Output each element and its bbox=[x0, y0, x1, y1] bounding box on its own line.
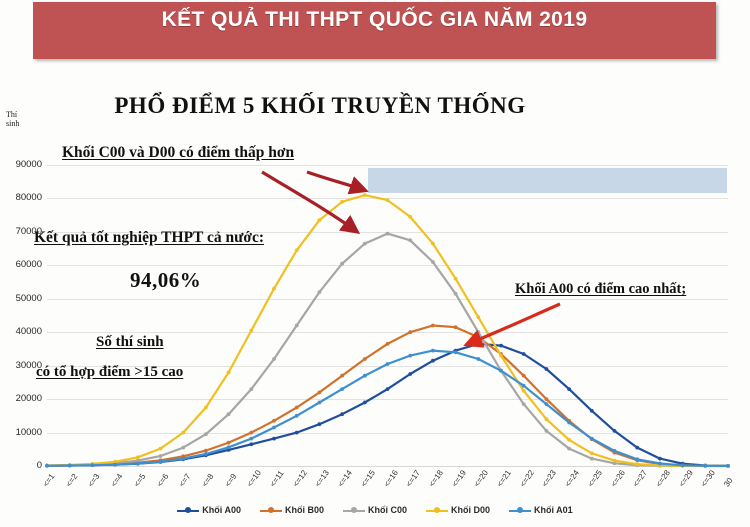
data-point bbox=[658, 457, 662, 461]
y-axis-tick-label: 80000 bbox=[0, 192, 42, 203]
x-axis-tick-label: <=20 bbox=[472, 468, 490, 488]
data-point bbox=[476, 357, 480, 361]
annotation-low-scores-text: Khối C00 và D00 có điểm thấp hơn bbox=[62, 144, 294, 161]
data-point bbox=[590, 409, 594, 413]
data-point bbox=[567, 387, 571, 391]
data-point bbox=[204, 452, 208, 456]
data-point bbox=[590, 437, 594, 441]
data-point bbox=[340, 387, 344, 391]
title-banner: KẾT QUẢ THI THPT QUỐC GIA NĂM 2019 bbox=[33, 2, 716, 59]
data-point bbox=[499, 369, 503, 373]
data-point bbox=[113, 463, 117, 467]
data-point bbox=[386, 387, 390, 391]
data-point bbox=[249, 437, 253, 441]
legend-item[interactable]: Khối A01 bbox=[509, 505, 573, 515]
x-axis-tick-label: <=26 bbox=[609, 468, 627, 488]
legend-swatch-icon bbox=[509, 506, 531, 515]
data-point bbox=[272, 437, 276, 441]
data-point bbox=[590, 451, 594, 455]
data-point bbox=[181, 446, 185, 450]
data-point bbox=[454, 350, 458, 354]
x-axis-tick-label: <=19 bbox=[450, 468, 468, 488]
data-point bbox=[249, 442, 253, 446]
x-axis-tick-label: 30 bbox=[722, 476, 734, 488]
legend-swatch-icon bbox=[177, 506, 199, 515]
data-point bbox=[386, 232, 390, 236]
x-axis-tick-label: <=17 bbox=[404, 468, 422, 488]
data-point bbox=[249, 431, 253, 435]
y-axis-tick-label: 40000 bbox=[0, 326, 42, 337]
x-axis-tick-label: <=27 bbox=[631, 468, 649, 488]
data-point bbox=[386, 362, 390, 366]
data-point bbox=[318, 422, 322, 426]
data-point bbox=[476, 330, 480, 334]
data-point bbox=[295, 431, 299, 435]
data-point bbox=[658, 462, 662, 466]
data-point bbox=[318, 401, 322, 405]
data-point bbox=[340, 412, 344, 416]
x-axis-tick-label: <=5 bbox=[132, 472, 147, 488]
slide-root: KẾT QUẢ THI THPT QUỐC GIA NĂM 2019 PHỔ Đ… bbox=[0, 0, 750, 527]
data-point bbox=[363, 401, 367, 405]
data-point bbox=[386, 198, 390, 202]
data-point bbox=[590, 457, 594, 461]
legend-label: Khối D00 bbox=[451, 505, 490, 515]
data-point bbox=[295, 248, 299, 252]
data-point bbox=[363, 242, 367, 246]
x-axis-tick-label: <=13 bbox=[313, 468, 331, 488]
data-point bbox=[204, 432, 208, 436]
data-point bbox=[318, 391, 322, 395]
legend-item[interactable]: Khối A00 bbox=[177, 505, 241, 515]
annotation-count-line2-text: có tổ hợp điểm >15 cao bbox=[36, 364, 183, 380]
data-point bbox=[408, 354, 412, 358]
y-axis-tick-label: 60000 bbox=[0, 259, 42, 270]
data-point bbox=[545, 429, 549, 433]
data-point bbox=[181, 431, 185, 435]
data-point bbox=[499, 354, 503, 358]
x-axis-tick-label: <=21 bbox=[495, 468, 513, 488]
legend-item[interactable]: Khối D00 bbox=[426, 505, 490, 515]
data-point bbox=[431, 260, 435, 264]
x-axis-tick-label: <=22 bbox=[518, 468, 536, 488]
data-point bbox=[681, 463, 685, 467]
data-point bbox=[408, 215, 412, 219]
annotation-count-line2: có tổ hợp điểm >15 cao bbox=[36, 364, 183, 381]
data-point bbox=[613, 459, 617, 463]
data-point bbox=[567, 447, 571, 451]
x-axis-tick-label: <=18 bbox=[427, 468, 445, 488]
data-point bbox=[522, 374, 526, 378]
data-point bbox=[227, 441, 231, 445]
legend-label: Khối C00 bbox=[368, 505, 407, 515]
x-axis-tick-label: <=6 bbox=[155, 472, 170, 488]
data-point bbox=[340, 374, 344, 378]
x-axis-tick-label: <=23 bbox=[540, 468, 558, 488]
x-axis-tick-label: <=8 bbox=[200, 472, 215, 488]
annotation-graduation-label: Kết quả tốt nghiệp THPT cả nước: bbox=[34, 229, 264, 247]
annotation-highest-a00: Khối A00 có điểm cao nhất; bbox=[515, 281, 686, 298]
y-axis-tick-label: 50000 bbox=[0, 293, 42, 304]
x-axis-tick-label: <=2 bbox=[64, 472, 79, 488]
data-point bbox=[295, 324, 299, 328]
data-point bbox=[363, 357, 367, 361]
x-axis-tick-label: <=11 bbox=[268, 469, 285, 489]
x-axis-tick-label: <=1 bbox=[41, 472, 56, 488]
data-point bbox=[318, 218, 322, 222]
data-point bbox=[454, 277, 458, 281]
data-point bbox=[272, 419, 276, 423]
data-point bbox=[249, 387, 253, 391]
data-point bbox=[227, 445, 231, 449]
data-point bbox=[431, 324, 435, 328]
data-point bbox=[635, 446, 639, 450]
data-point bbox=[159, 454, 163, 458]
data-point bbox=[408, 330, 412, 334]
legend-item[interactable]: Khối B00 bbox=[260, 505, 324, 515]
banner-title: KẾT QUẢ THI THPT QUỐC GIA NĂM 2019 bbox=[33, 8, 716, 32]
annotation-graduation-value: 94,06% bbox=[130, 268, 201, 293]
data-point bbox=[249, 329, 253, 333]
annotation-count-line1-text: Số thí sinh bbox=[96, 334, 164, 350]
data-point bbox=[204, 449, 208, 453]
x-axis-tick-label: <=28 bbox=[654, 468, 672, 488]
data-point bbox=[431, 242, 435, 246]
data-point bbox=[295, 414, 299, 418]
data-point bbox=[431, 349, 435, 353]
y-axis-tick-label: 20000 bbox=[0, 393, 42, 404]
data-point bbox=[181, 457, 185, 461]
data-point bbox=[272, 287, 276, 291]
data-point bbox=[454, 325, 458, 329]
data-point bbox=[363, 374, 367, 378]
data-point bbox=[295, 406, 299, 410]
legend-swatch-icon bbox=[260, 506, 282, 515]
data-point bbox=[545, 417, 549, 421]
data-point bbox=[227, 412, 231, 416]
data-point bbox=[545, 367, 549, 371]
data-point bbox=[522, 352, 526, 356]
data-point bbox=[522, 402, 526, 406]
chart-plot-area: 0100002000030000400005000060000700008000… bbox=[47, 165, 728, 467]
legend-swatch-icon bbox=[426, 506, 448, 515]
x-axis-tick-label: <=25 bbox=[586, 468, 604, 488]
legend-label: Khối A00 bbox=[202, 505, 241, 515]
x-axis-tick-label: <=24 bbox=[563, 468, 581, 488]
data-point bbox=[340, 200, 344, 204]
x-axis-tick-label: <=9 bbox=[223, 472, 238, 488]
data-point bbox=[545, 397, 549, 401]
x-axis-tick-label: <=30 bbox=[699, 468, 717, 488]
data-point bbox=[476, 342, 480, 346]
x-axis-tick-label: <=12 bbox=[291, 468, 309, 488]
data-point bbox=[522, 389, 526, 393]
y-axis-tick-label: 0 bbox=[0, 460, 42, 471]
x-axis-tick-label: <=16 bbox=[382, 468, 400, 488]
y-axis-unit-label: Thísinh bbox=[6, 110, 19, 128]
legend-label: Khối B00 bbox=[285, 505, 324, 515]
data-point bbox=[363, 193, 367, 197]
data-point bbox=[272, 426, 276, 430]
data-point bbox=[204, 406, 208, 410]
data-point bbox=[522, 384, 526, 388]
chart-legend: Khối A00Khối B00Khối C00Khối D00Khối A01 bbox=[0, 505, 750, 515]
annotation-highest-a00-text: Khối A00 có điểm cao nhất; bbox=[515, 281, 686, 297]
x-axis-tick-label: <=10 bbox=[245, 468, 263, 488]
data-point bbox=[431, 359, 435, 363]
chart-title: PHỔ ĐIỂM 5 KHỐI TRUYỀN THỐNG bbox=[60, 93, 580, 119]
annotation-graduation-label-text: Kết quả tốt nghiệp THPT cả nước: bbox=[34, 229, 264, 246]
data-point bbox=[136, 462, 140, 466]
data-point bbox=[227, 371, 231, 375]
y-axis-tick-label: 10000 bbox=[0, 427, 42, 438]
data-point bbox=[476, 315, 480, 319]
data-point bbox=[159, 460, 163, 464]
legend-swatch-icon bbox=[343, 506, 365, 515]
x-axis-tick-labels: <=1<=2<=3<=4<=5<=6<=7<=8<=9<=10<=11<=12<… bbox=[47, 468, 728, 503]
data-point bbox=[613, 449, 617, 453]
data-point bbox=[68, 464, 72, 468]
annotation-low-scores: Khối C00 và D00 có điểm thấp hơn bbox=[62, 144, 294, 162]
data-point bbox=[499, 344, 503, 348]
x-axis-tick-label: <=7 bbox=[177, 472, 192, 488]
data-point bbox=[159, 447, 163, 451]
data-point bbox=[567, 421, 571, 425]
data-point bbox=[545, 402, 549, 406]
data-point bbox=[635, 462, 639, 466]
y-axis-tick-label: 90000 bbox=[0, 159, 42, 170]
data-point bbox=[408, 238, 412, 242]
data-point bbox=[340, 262, 344, 266]
data-point bbox=[567, 438, 571, 442]
data-point bbox=[386, 342, 390, 346]
annotation-count-line1: Số thí sinh bbox=[96, 334, 164, 351]
data-point bbox=[613, 429, 617, 433]
data-point bbox=[318, 290, 322, 294]
data-point bbox=[91, 463, 95, 467]
data-point bbox=[454, 292, 458, 296]
data-point bbox=[635, 457, 639, 461]
x-axis-tick-label: <=4 bbox=[109, 472, 124, 488]
x-axis-tick-label: <=29 bbox=[677, 468, 695, 488]
x-axis-tick-label: <=14 bbox=[336, 468, 354, 488]
legend-label: Khối A01 bbox=[534, 505, 573, 515]
x-axis-tick-label: <=15 bbox=[359, 468, 377, 488]
chart-series-svg bbox=[47, 165, 728, 467]
data-point bbox=[408, 372, 412, 376]
x-axis-tick-label: <=3 bbox=[86, 472, 101, 488]
data-point bbox=[136, 455, 140, 459]
data-point bbox=[272, 357, 276, 361]
legend-item[interactable]: Khối C00 bbox=[343, 505, 407, 515]
